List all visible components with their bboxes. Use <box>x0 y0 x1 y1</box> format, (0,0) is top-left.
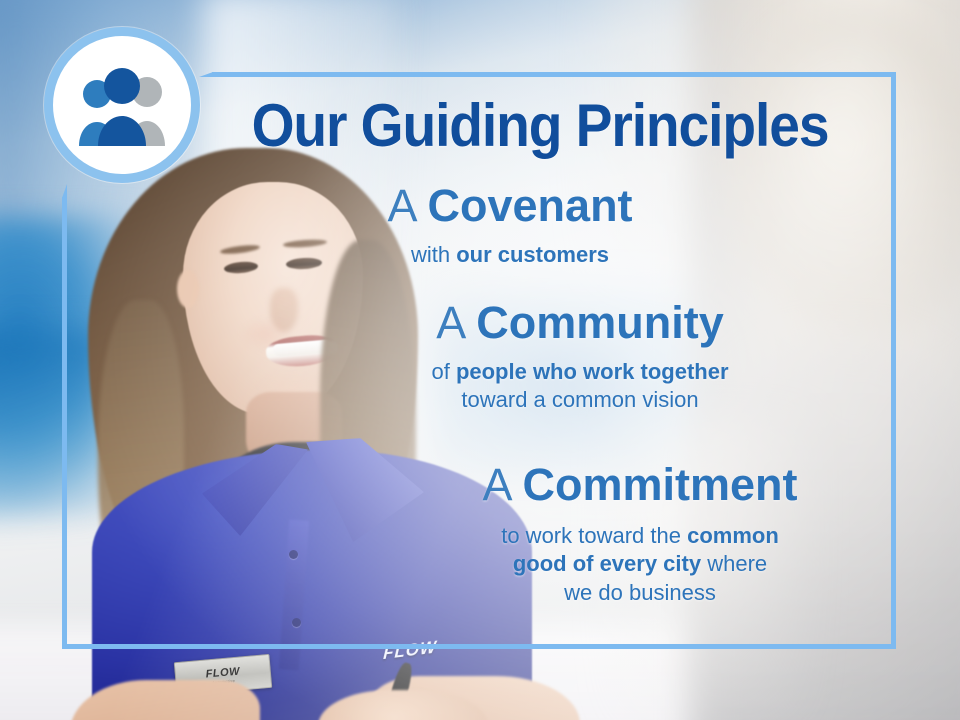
principle-subtext: with our customers <box>300 241 720 270</box>
principle-subtext-line: to work toward the common <box>400 522 880 551</box>
principle-heading: A Community <box>340 300 820 346</box>
principle-subtext-part-bold: common <box>687 523 779 548</box>
principle-subtext-part: toward a common vision <box>461 387 698 412</box>
principle-subtext-part: where <box>701 551 767 576</box>
principle-keyword: Commitment <box>523 459 798 510</box>
principle-keyword: Community <box>476 297 724 348</box>
page-title: Our Guiding Principles <box>236 96 843 156</box>
guiding-principles-graphic: FLOW FLOW Automotive <box>0 0 960 720</box>
principle-subtext-part-bold: our customers <box>456 242 609 267</box>
principle-keyword: Covenant <box>428 180 633 231</box>
principle-subtext-part: we do business <box>564 580 716 605</box>
principle-heading: A Covenant <box>300 183 720 229</box>
principle-subtext-part: to work toward the <box>501 523 687 548</box>
principle-subtext-line: with our customers <box>300 241 720 270</box>
principle-subtext-line: we do business <box>400 579 880 608</box>
principle-article: A <box>387 180 415 231</box>
principle-subtext-part-bold: good of every city <box>513 551 701 576</box>
principle-subtext-line: good of every city where <box>400 550 880 579</box>
principle-subtext-line: of people who work together <box>340 358 820 387</box>
principle-subtext-line: toward a common vision <box>340 386 820 415</box>
principle-community: A Community of people who work together … <box>340 300 820 415</box>
principle-heading: A Commitment <box>400 462 880 508</box>
principle-article: A <box>482 459 510 510</box>
principle-subtext-part-bold: people who work together <box>456 359 729 384</box>
principle-article: A <box>436 297 464 348</box>
text-content: Our Guiding Principles A Covenant with o… <box>0 0 960 720</box>
principle-commitment: A Commitment to work toward the common g… <box>400 462 880 608</box>
principle-subtext-part: with <box>411 242 456 267</box>
principle-subtext-part: of <box>431 359 455 384</box>
principle-subtext: to work toward the common good of every … <box>400 522 880 608</box>
principle-subtext: of people who work together toward a com… <box>340 358 820 415</box>
principle-covenant: A Covenant with our customers <box>300 183 720 269</box>
